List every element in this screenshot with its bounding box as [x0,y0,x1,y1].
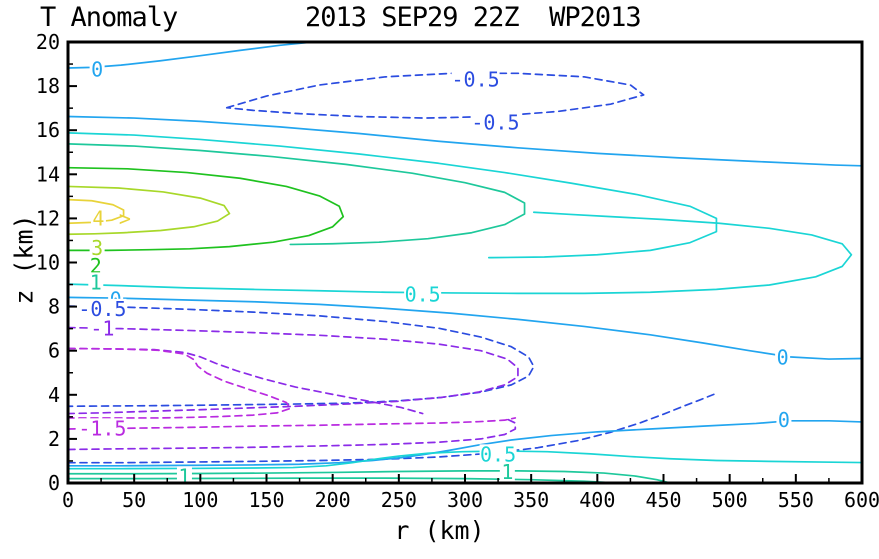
y-tick-label: 8 [48,295,60,319]
contour-line--1 [68,418,515,450]
contour-line-0 [68,297,879,359]
contour-label: 1 [178,464,190,488]
contour-label: -0.5 [471,110,519,134]
x-tick-label: 250 [381,488,417,512]
y-tick-label: 4 [48,383,60,407]
y-tick-label: 14 [36,162,60,186]
x-tick-label: 150 [248,488,284,512]
plot-canvas: 0-0.5-0.5432100.5-0.5-1-1.5000.511>05010… [0,0,879,559]
axes-layer: 0501001502002503003504004505005506000246… [36,30,879,512]
contour-label: 1 [90,270,102,294]
contour-layer [68,42,879,483]
contour-label: -1.5 [78,416,126,440]
contour-label: 0 [91,58,103,82]
y-tick-label: 2 [48,427,60,451]
contour-label: 0 [778,408,790,432]
x-tick-label: 300 [447,488,483,512]
contour-line--0.5 [227,73,644,118]
x-tick-label: 550 [778,488,814,512]
contour-label: -0.5 [452,67,500,91]
contour-line--1 [68,328,518,414]
contour-line--1.5 [68,349,290,418]
contour-line--1.5 [68,418,515,429]
x-tick-label: 200 [315,488,351,512]
x-tick-label: 600 [844,488,879,512]
y-tick-label: 0 [48,471,60,495]
y-tick-label: 16 [36,118,60,142]
x-tick-label: 450 [645,488,681,512]
contour-line-1 [68,144,525,245]
contour-line-0.5 [68,133,716,258]
contour-line-2 [68,168,343,251]
x-tick-label: 500 [712,488,748,512]
y-tick-label: 12 [36,206,60,230]
x-tick-label: 100 [182,488,218,512]
x-axis-title: r (km) [0,516,879,545]
contour-label: 0.5 [405,282,441,306]
y-tick-label: 10 [36,251,60,275]
y-axis-title: z (km) [10,190,39,330]
contour-line--1 [68,349,423,414]
contour-label: 4 [92,206,104,230]
contour-label: 0 [777,345,789,369]
y-tick-label: 18 [36,74,60,98]
contour-plot-figure: T Anomaly 2013 SEP29 22Z WP2013 0-0.5-0.… [0,0,879,559]
core-maximum-marker: > [119,206,131,230]
contour-label: 1 [501,460,513,484]
y-tick-label: 20 [36,30,60,54]
contour-label: -1 [90,317,114,341]
x-tick-label: 0 [62,488,74,512]
x-tick-label: 400 [579,488,615,512]
x-tick-label: 50 [122,488,146,512]
contour-line-0 [68,42,313,68]
contour-line--0.5 [68,306,534,406]
y-tick-label: 6 [48,339,60,363]
contour-line-0.5 [68,212,851,293]
x-tick-label: 350 [513,488,549,512]
